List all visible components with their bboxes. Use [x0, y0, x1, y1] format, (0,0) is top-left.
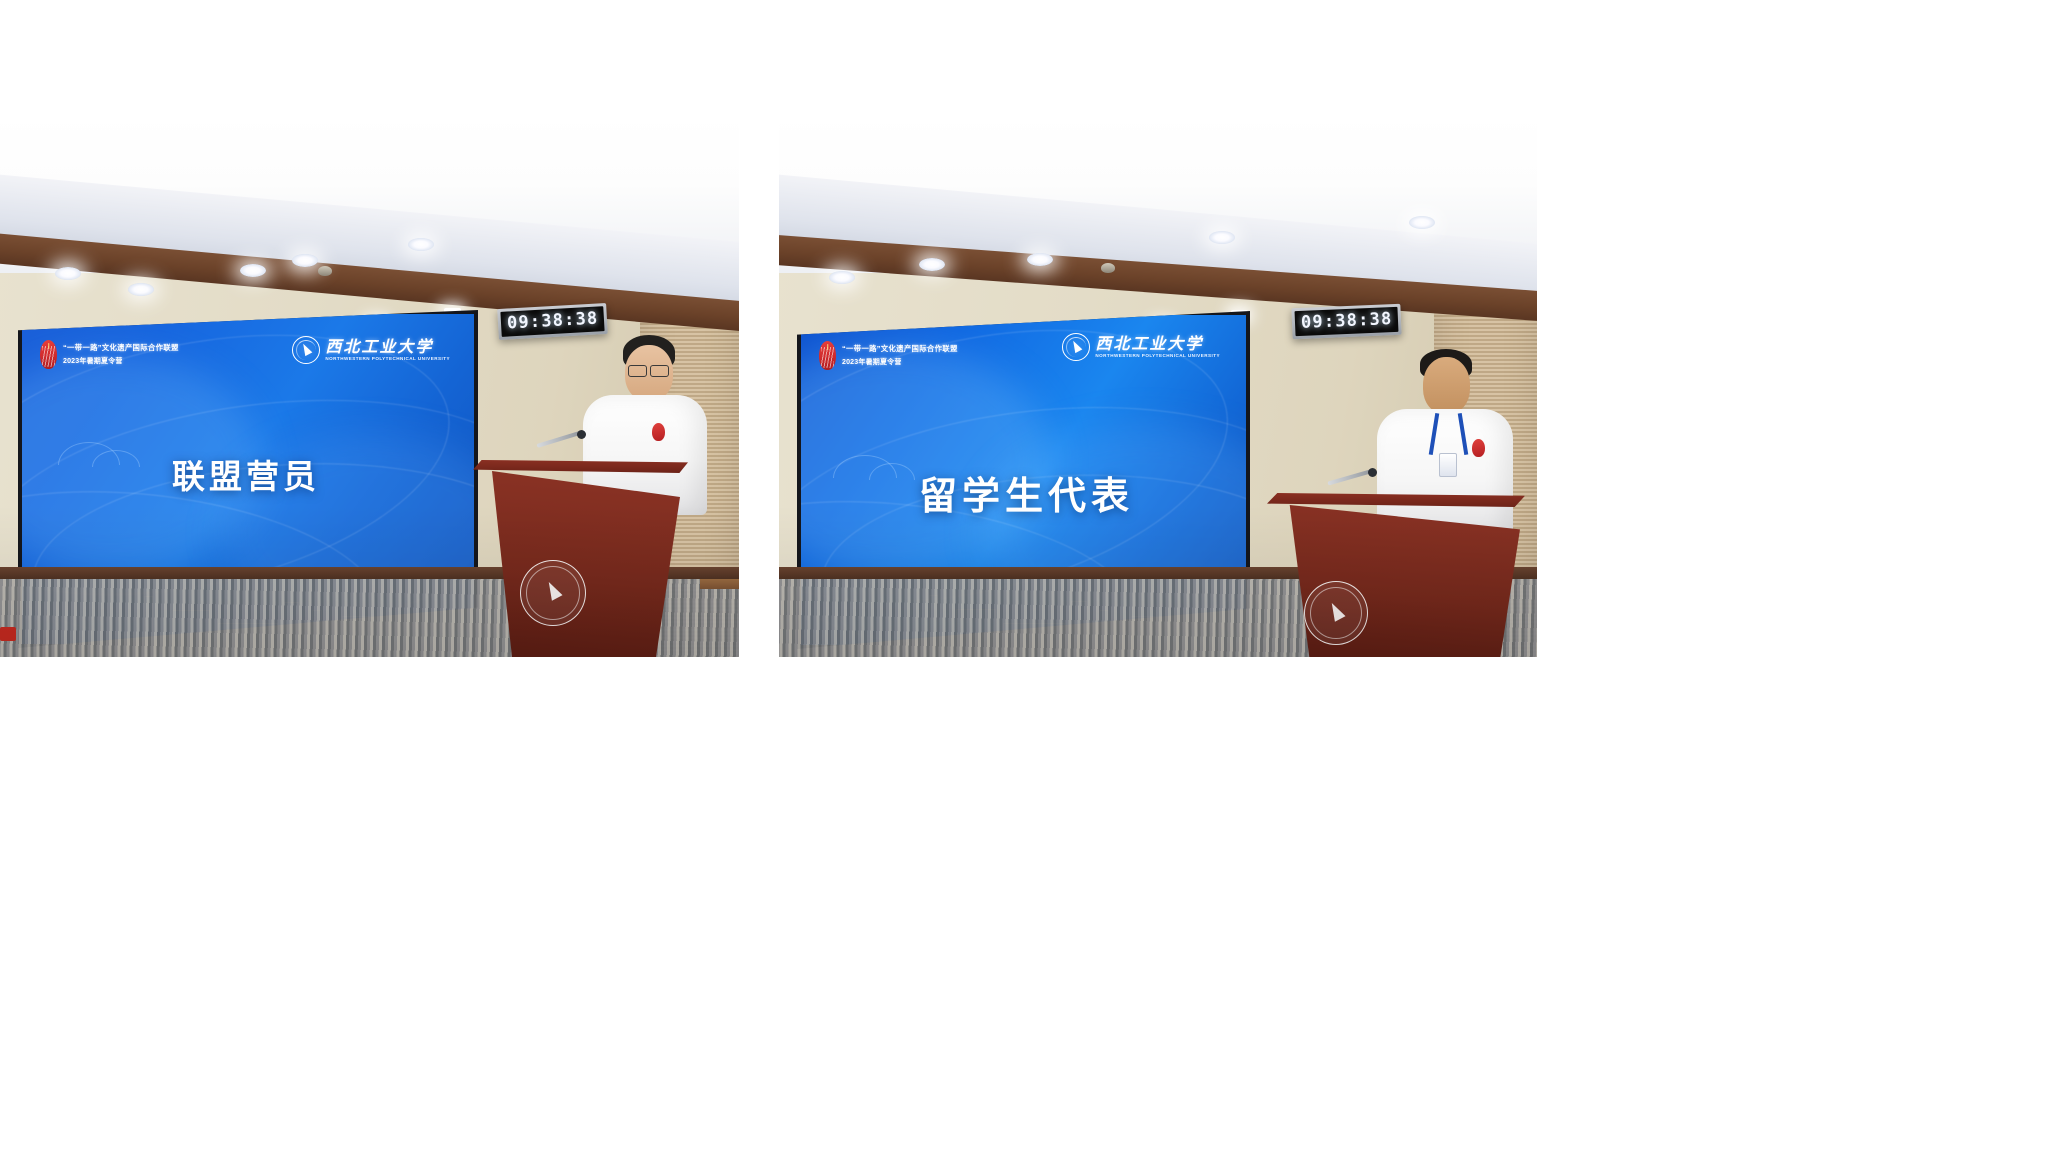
podium-top [473, 460, 688, 473]
smoke-detector-icon [318, 266, 332, 276]
slide-header-left: “一带一路”文化遗产国际合作联盟 2023年暑期夏令营 [40, 340, 179, 369]
header-line-1: “一带一路”文化遗产国际合作联盟 [63, 342, 179, 353]
downlight [128, 283, 154, 296]
slide-title-right: 留学生代表 [919, 465, 1134, 520]
header-line-1: “一带一路”文化遗产国际合作联盟 [842, 343, 958, 354]
digital-wall-clock: 09:38:38 [497, 303, 608, 340]
digital-wall-clock: 09:38:38 [1291, 304, 1402, 340]
university-name-cn: 西北工业大学 [325, 339, 450, 355]
nwpu-seal-icon [292, 336, 320, 364]
conference-room-right: 09:38:38 “一带一路”文化遗产国际合作联 [779, 113, 1537, 657]
downlight [55, 267, 81, 280]
microphone-head-icon [577, 430, 586, 439]
conference-room-left: 09:38:38 [0, 113, 739, 657]
name-badge [1439, 453, 1457, 477]
glasses-icon [650, 365, 669, 377]
downlight [829, 271, 855, 284]
alliance-emblem-icon [819, 341, 836, 370]
podium-front-panel [480, 471, 680, 657]
podium-right [1267, 493, 1537, 657]
clock-face: 09:38:38 [1295, 307, 1399, 336]
university-name-cn: 西北工业大学 [1095, 336, 1220, 352]
alliance-emblem-icon [40, 340, 57, 369]
photo-right: 09:38:38 “一带一路”文化遗产国际合作联 [779, 113, 1537, 657]
shirt-emblem [652, 423, 665, 441]
downlight [1209, 231, 1235, 244]
nwpu-podium-seal [1304, 581, 1368, 645]
university-wordmark: 西北工业大学 NORTHWESTERN POLYTECHNICAL UNIVER… [325, 339, 450, 361]
photo-left: 09:38:38 [0, 113, 739, 657]
clock-time-readout: 09:38:38 [507, 310, 599, 332]
university-name-en: NORTHWESTERN POLYTECHNICAL UNIVERSITY [325, 356, 450, 361]
nwpu-podium-seal [520, 560, 586, 626]
header-line-2: 2023年暑期夏令营 [842, 357, 958, 367]
clock-face: 09:38:38 [500, 306, 605, 337]
microphone-head-icon [1368, 468, 1377, 477]
clock-time-readout: 09:38:38 [1301, 311, 1393, 332]
university-logo: 西北工业大学 NORTHWESTERN POLYTECHNICAL UNIVER… [292, 336, 450, 364]
downlight [1027, 253, 1053, 266]
nwpu-seal-icon [1062, 333, 1090, 361]
downlight [1409, 216, 1435, 229]
red-floor-object [0, 627, 16, 641]
head [1423, 357, 1470, 414]
header-line-2: 2023年暑期夏令营 [63, 356, 179, 366]
slide-title-left: 联盟营员 [172, 450, 320, 498]
downlight [408, 238, 434, 251]
glasses-icon [628, 365, 647, 377]
slide-header-text: “一带一路”文化遗产国际合作联盟 2023年暑期夏令营 [842, 341, 958, 367]
downlight [919, 258, 945, 271]
university-wordmark: 西北工业大学 NORTHWESTERN POLYTECHNICAL UNIVER… [1095, 336, 1220, 358]
slide-header-text: “一带一路”文化遗产国际合作联盟 2023年暑期夏令营 [63, 340, 179, 366]
podium-left [473, 460, 708, 657]
university-logo: 西北工业大学 NORTHWESTERN POLYTECHNICAL UNIVER… [1062, 333, 1220, 361]
shirt-emblem [1472, 439, 1485, 457]
slide-header-right: “一带一路”文化遗产国际合作联盟 2023年暑期夏令营 [819, 341, 958, 370]
smoke-detector-icon [1101, 263, 1115, 273]
screenshot-canvas: 09:38:38 [0, 0, 2048, 1152]
podium-top [1267, 493, 1525, 507]
downlight [240, 264, 266, 277]
downlight [292, 254, 318, 267]
university-name-en: NORTHWESTERN POLYTECHNICAL UNIVERSITY [1095, 353, 1220, 358]
